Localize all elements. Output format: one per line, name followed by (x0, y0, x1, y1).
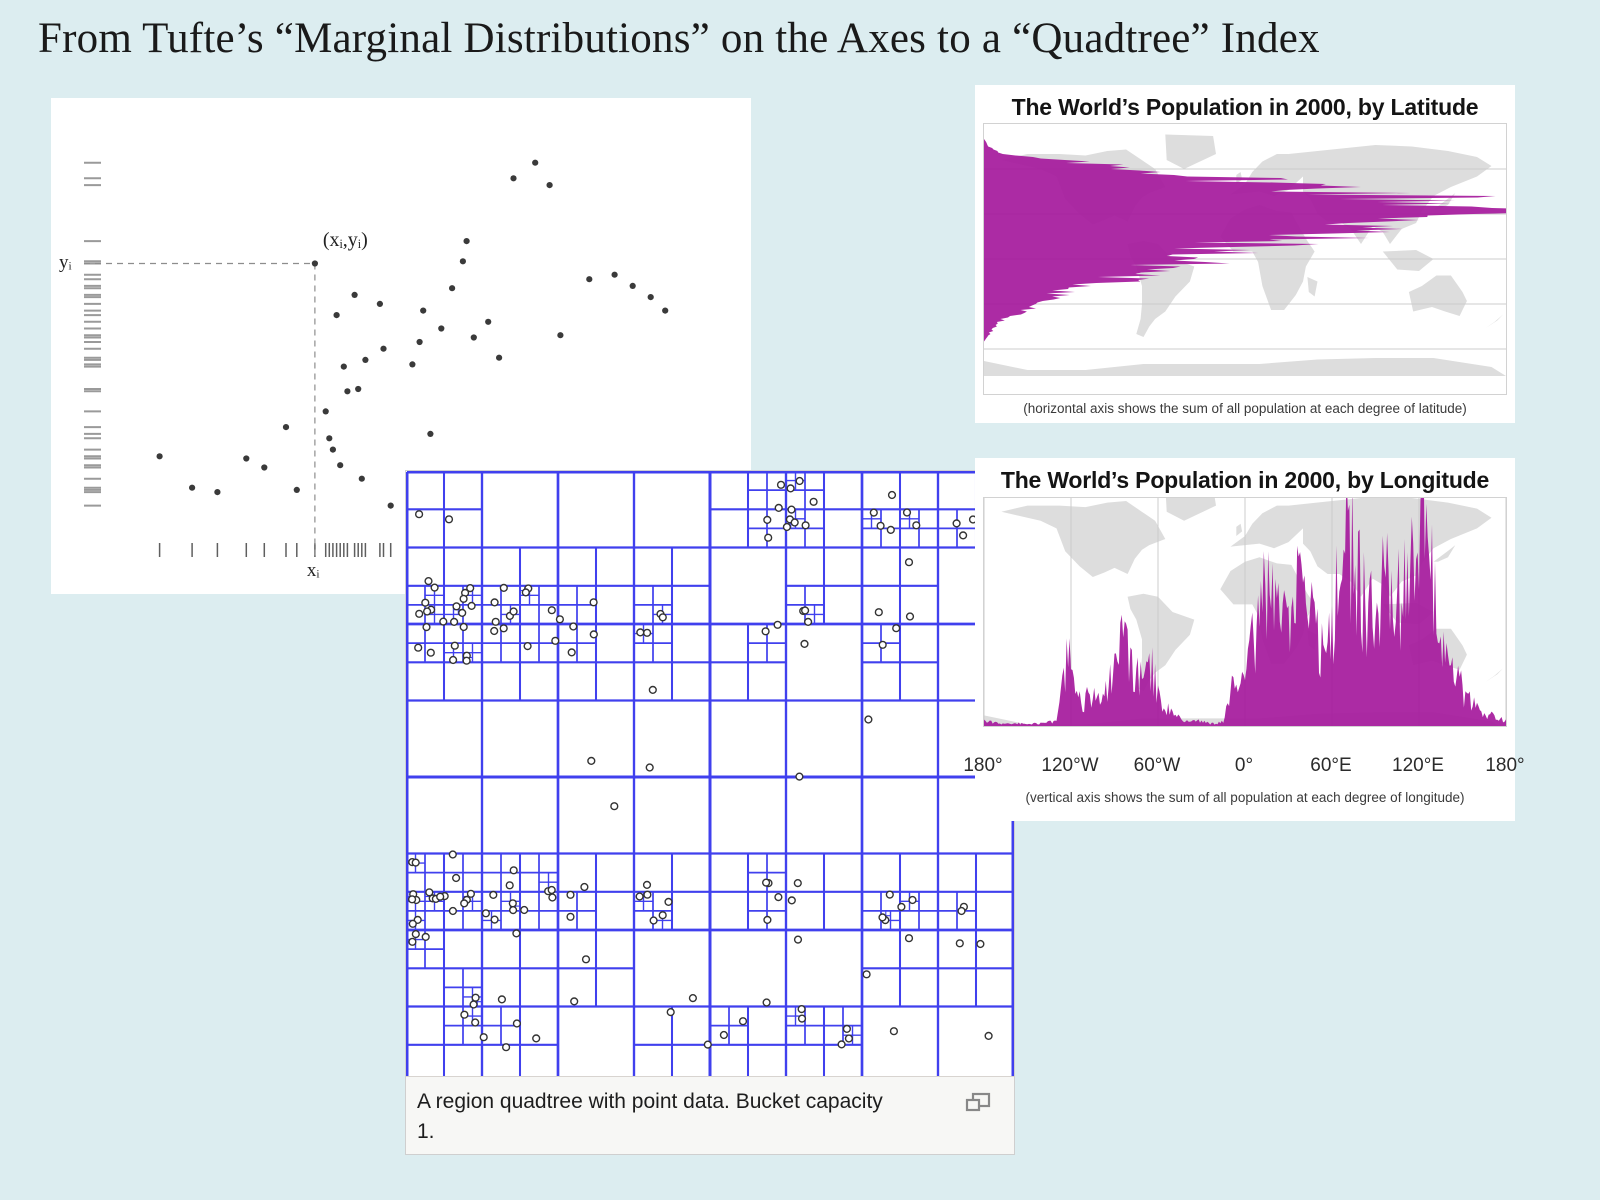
longitude-axis-tick-labels: 180°120°W60°W0°60°E120°E180° (983, 755, 1507, 781)
scatter-point (326, 435, 332, 441)
quadtree-point (570, 623, 577, 630)
quadtree-canvas (406, 471, 1014, 1081)
scatter-point (341, 364, 347, 370)
quadtree-point (509, 900, 516, 907)
quadtree-point (891, 1028, 898, 1035)
latitude-chart-svg (984, 124, 1506, 394)
quadtree-point (636, 893, 643, 900)
quadtree-point (583, 956, 590, 963)
quadtree-point (453, 603, 460, 610)
quadtree-point (879, 914, 886, 921)
scatter-point (355, 386, 361, 392)
scatter-point (330, 447, 336, 453)
scatter-point (323, 408, 329, 414)
quadtree-point (453, 875, 460, 882)
scatter-point (557, 332, 563, 338)
quadtree-point (956, 940, 963, 947)
quadtree-point (567, 891, 574, 898)
quadtree-point (977, 941, 984, 948)
quadtree-point (510, 867, 517, 874)
scatter-point (612, 272, 618, 278)
quadtree-point (431, 584, 438, 591)
longitude-tick-label: 60°E (1310, 755, 1351, 777)
quadtree-point (524, 643, 531, 650)
scatter-point (427, 431, 433, 437)
quadtree-point (879, 641, 886, 648)
quadtree-point (461, 900, 468, 907)
quadtree-point (763, 879, 770, 886)
point-annotation-label: (xᵢ,yᵢ) (323, 229, 368, 252)
quadtree-point (909, 897, 916, 904)
quadtree-point (425, 578, 432, 585)
quadtree-point (898, 904, 905, 911)
quadtree-point (424, 608, 431, 615)
quadtree-point (568, 649, 575, 656)
quadtree-point (799, 1015, 806, 1022)
scatter-point (388, 503, 394, 509)
quadtree-point (472, 994, 479, 1001)
quadtree-point (416, 610, 423, 617)
scatter-point (312, 260, 318, 266)
quadtree-svg (406, 471, 1014, 1083)
quadtree-point (450, 908, 457, 915)
quadtree-point (492, 618, 499, 625)
scatter-point (547, 182, 553, 188)
quadtree-point (422, 934, 429, 941)
quadtree-point (665, 899, 672, 906)
quadtree-point (985, 1033, 992, 1040)
quadtree-point (886, 891, 893, 898)
quadtree-point (446, 516, 453, 523)
scatter-point (532, 160, 538, 166)
quadtree-point (802, 522, 809, 529)
latitude-population-chart-panel: The World’s Population in 2000, by Latit… (975, 85, 1515, 423)
quadtree-point (506, 882, 513, 889)
quadtree-point (611, 803, 618, 810)
latitude-chart-title: The World’s Population in 2000, by Latit… (975, 85, 1515, 121)
scatter-point (449, 285, 455, 291)
quadtree-point (490, 892, 497, 899)
quadtree-point (588, 758, 595, 765)
scatter-points (157, 160, 669, 509)
quadtree-point (552, 637, 559, 644)
quadtree-point (510, 907, 517, 914)
quadtree-point (423, 624, 430, 631)
quadtree-point (906, 935, 913, 942)
quadtree-point (422, 599, 429, 606)
scatter-point (377, 301, 383, 307)
quadtree-point (646, 764, 653, 771)
quadtree-point (522, 589, 529, 596)
longitude-chart-title: The World’s Population in 2000, by Longi… (975, 458, 1515, 494)
scatter-point (630, 283, 636, 289)
quadtree-caption-bar: A region quadtree with point data. Bucke… (406, 1076, 1014, 1154)
quadtree-point (796, 478, 803, 485)
landmass-polygon (1383, 250, 1434, 271)
quadtree-point (801, 641, 808, 648)
quadtree-point (460, 624, 467, 631)
scatter-point (352, 292, 358, 298)
quadtree-point (460, 595, 467, 602)
scatter-point (420, 308, 426, 314)
quadtree-point (659, 614, 666, 621)
scatter-point (243, 455, 249, 461)
quadtree-point (953, 520, 960, 527)
quadtree-point (778, 481, 785, 488)
longitude-chart-caption: (vertical axis shows the sum of all popu… (975, 790, 1515, 805)
quadtree-point (774, 621, 781, 628)
quadtree-point (470, 1001, 477, 1008)
landmass-polygon (1001, 501, 1165, 577)
restore-window-icon[interactable] (964, 1091, 992, 1115)
quadtree-point (650, 917, 657, 924)
quadtree-point (412, 931, 419, 938)
longitude-chart-plot-frame (983, 497, 1507, 727)
longitude-chart-svg (984, 498, 1506, 726)
quadtree-point (451, 642, 458, 649)
quadtree-point (637, 629, 644, 636)
quadtree-point (426, 889, 433, 896)
quadtree-point (412, 859, 419, 866)
landmass-polygon (1165, 498, 1216, 521)
quadtree-point (788, 506, 795, 513)
quadtree-point (765, 534, 772, 541)
quadtree-point (581, 884, 588, 891)
quadtree-point (521, 907, 528, 914)
quadtree-point (427, 649, 434, 656)
quadtree-point (499, 996, 506, 1003)
quadtree-point (503, 1044, 510, 1051)
quadtree-point (863, 971, 870, 978)
landmass-polygon (1486, 668, 1503, 682)
quadtree-point (904, 509, 911, 516)
quadtree-point (659, 912, 666, 919)
quadtree-point (913, 522, 920, 529)
quadtree-point (549, 894, 556, 901)
scatter-point (359, 476, 365, 482)
landmass-polygon (1434, 545, 1456, 562)
quadtree-point (644, 891, 651, 898)
scatter-point (157, 453, 163, 459)
quadtree-point (889, 492, 896, 499)
quadtree-point (906, 559, 913, 566)
quadtree-point (483, 910, 490, 917)
scatter-point (648, 294, 654, 300)
longitude-tick-label: 180° (1485, 755, 1524, 777)
quadtree-point (500, 585, 507, 592)
quadtree-point (796, 773, 803, 780)
quadtree-point (870, 509, 877, 516)
scatter-point (294, 487, 300, 493)
quadtree-point (893, 625, 900, 632)
quadtree-point (775, 505, 782, 512)
scatter-point (261, 464, 267, 470)
quadtree-diagram-panel: A region quadtree with point data. Bucke… (405, 470, 1015, 1155)
quadtree-point (795, 936, 802, 943)
landmass-polygon (1165, 135, 1216, 170)
quadtree-point (838, 1041, 845, 1048)
scatter-point (409, 361, 415, 367)
landmass-polygon (1486, 315, 1503, 329)
quadtree-point (798, 1006, 805, 1013)
quadtree-point (548, 607, 555, 614)
quadtree-point (510, 608, 517, 615)
longitude-tick-label: 0° (1235, 755, 1253, 777)
quadtree-point (649, 687, 656, 694)
quadtree-data-points (409, 478, 992, 1083)
quadtree-point (794, 880, 801, 887)
quadtree-point (472, 1019, 479, 1026)
scatter-point (362, 357, 368, 363)
quadtree-point (846, 1035, 853, 1042)
scatter-point (460, 258, 466, 264)
quadtree-point (958, 908, 965, 915)
page-title: From Tufte’s “Marginal Distributions” on… (38, 14, 1320, 63)
scatter-point (438, 325, 444, 331)
quadtree-point (784, 524, 791, 531)
scatter-point (189, 485, 195, 491)
scatter-point (214, 489, 220, 495)
quadtree-point (500, 625, 507, 632)
quadtree-point (887, 527, 894, 534)
quadtree-point (533, 1035, 540, 1042)
quadtree-point (844, 1026, 851, 1033)
quadtree-point (644, 629, 651, 636)
quadtree-point (802, 607, 809, 614)
scatter-point (662, 308, 668, 314)
quadtree-point (590, 631, 597, 638)
y-axis-label: yᵢ (59, 252, 72, 274)
scatter-point (471, 334, 477, 340)
scatter-point (510, 175, 516, 181)
quadtree-point (491, 599, 498, 606)
quadtree-point (468, 890, 475, 897)
scatter-point (283, 424, 289, 430)
latitude-chart-caption: (horizontal axis shows the sum of all po… (975, 401, 1515, 416)
quadtree-point (409, 896, 416, 903)
landmass-polygon (1307, 277, 1317, 297)
landmass-polygon (1289, 498, 1492, 597)
quadtree-point (805, 619, 812, 626)
quadtree-point (440, 618, 447, 625)
quadtree-point (449, 851, 456, 858)
longitude-tick-label: 180° (963, 755, 1002, 777)
scatter-point (496, 355, 502, 361)
quadtree-point (459, 610, 466, 617)
quadtree-point (810, 498, 817, 505)
quadtree-point (416, 511, 423, 518)
scatter-point (334, 312, 340, 318)
quadtree-point (514, 1020, 521, 1027)
quadtree-point (480, 1034, 487, 1041)
quadtree-point (788, 897, 795, 904)
quadtree-point (557, 616, 564, 623)
landmass-polygon (1236, 524, 1242, 536)
scatter-point (464, 238, 470, 244)
quadtree-point (461, 1011, 468, 1018)
quadtree-point (548, 887, 555, 894)
quadtree-point (775, 894, 782, 901)
longitude-tick-label: 60°W (1134, 755, 1181, 777)
quadtree-point (450, 657, 457, 664)
quadtree-point (721, 1032, 728, 1039)
quadtree-point (513, 930, 520, 937)
quadtree-point (667, 1009, 674, 1016)
scatter-point (344, 388, 350, 394)
quadtree-point (491, 916, 498, 923)
quadtree-point (787, 485, 794, 492)
quadtree-point (468, 603, 475, 610)
landmass-polygon (1231, 506, 1304, 549)
scatter-point (417, 339, 423, 345)
landmass-polygon (984, 358, 1506, 376)
y-axis-rug-marks (84, 163, 101, 506)
quadtree-point (865, 716, 872, 723)
quadtree-caption-text: A region quadtree with point data. Bucke… (417, 1087, 887, 1148)
quadtree-point (463, 657, 470, 664)
quadtree-point (451, 619, 458, 626)
longitude-population-chart-panel: The World’s Population in 2000, by Longi… (975, 458, 1515, 821)
quadtree-point (740, 1018, 747, 1025)
quadtree-point (763, 999, 770, 1006)
quadtree-point (491, 628, 498, 635)
quadtree-point (409, 920, 416, 927)
quadtree-point (437, 893, 444, 900)
quadtree-point (960, 532, 967, 539)
latitude-chart-plot-frame (983, 123, 1507, 395)
quadtree-point (590, 599, 597, 606)
quadtree-point (762, 628, 769, 635)
quadtree-point (791, 519, 798, 526)
quadtree-point (704, 1041, 711, 1048)
quadtree-subdivision-lines (406, 471, 1014, 1083)
quadtree-point (875, 609, 882, 616)
quadtree-point (571, 998, 578, 1005)
quadtree-point (567, 913, 574, 920)
quadtree-point (415, 644, 422, 651)
quadtree-point (764, 517, 771, 524)
scatter-point (380, 346, 386, 352)
quadtree-point (907, 613, 914, 620)
quadtree-point (644, 882, 651, 889)
quadtree-point (764, 917, 771, 924)
scatter-point (586, 276, 592, 282)
longitude-tick-label: 120°E (1392, 755, 1444, 777)
quadtree-point (877, 522, 884, 529)
quadtree-point (690, 995, 697, 1002)
landmass-polygon (1409, 276, 1467, 317)
crosshair-guides (84, 264, 315, 557)
longitude-tick-label: 120°W (1041, 755, 1098, 777)
x-axis-label: xᵢ (307, 560, 320, 582)
scatter-point (337, 462, 343, 468)
scatter-point (485, 319, 491, 325)
quadtree-point (409, 938, 416, 945)
